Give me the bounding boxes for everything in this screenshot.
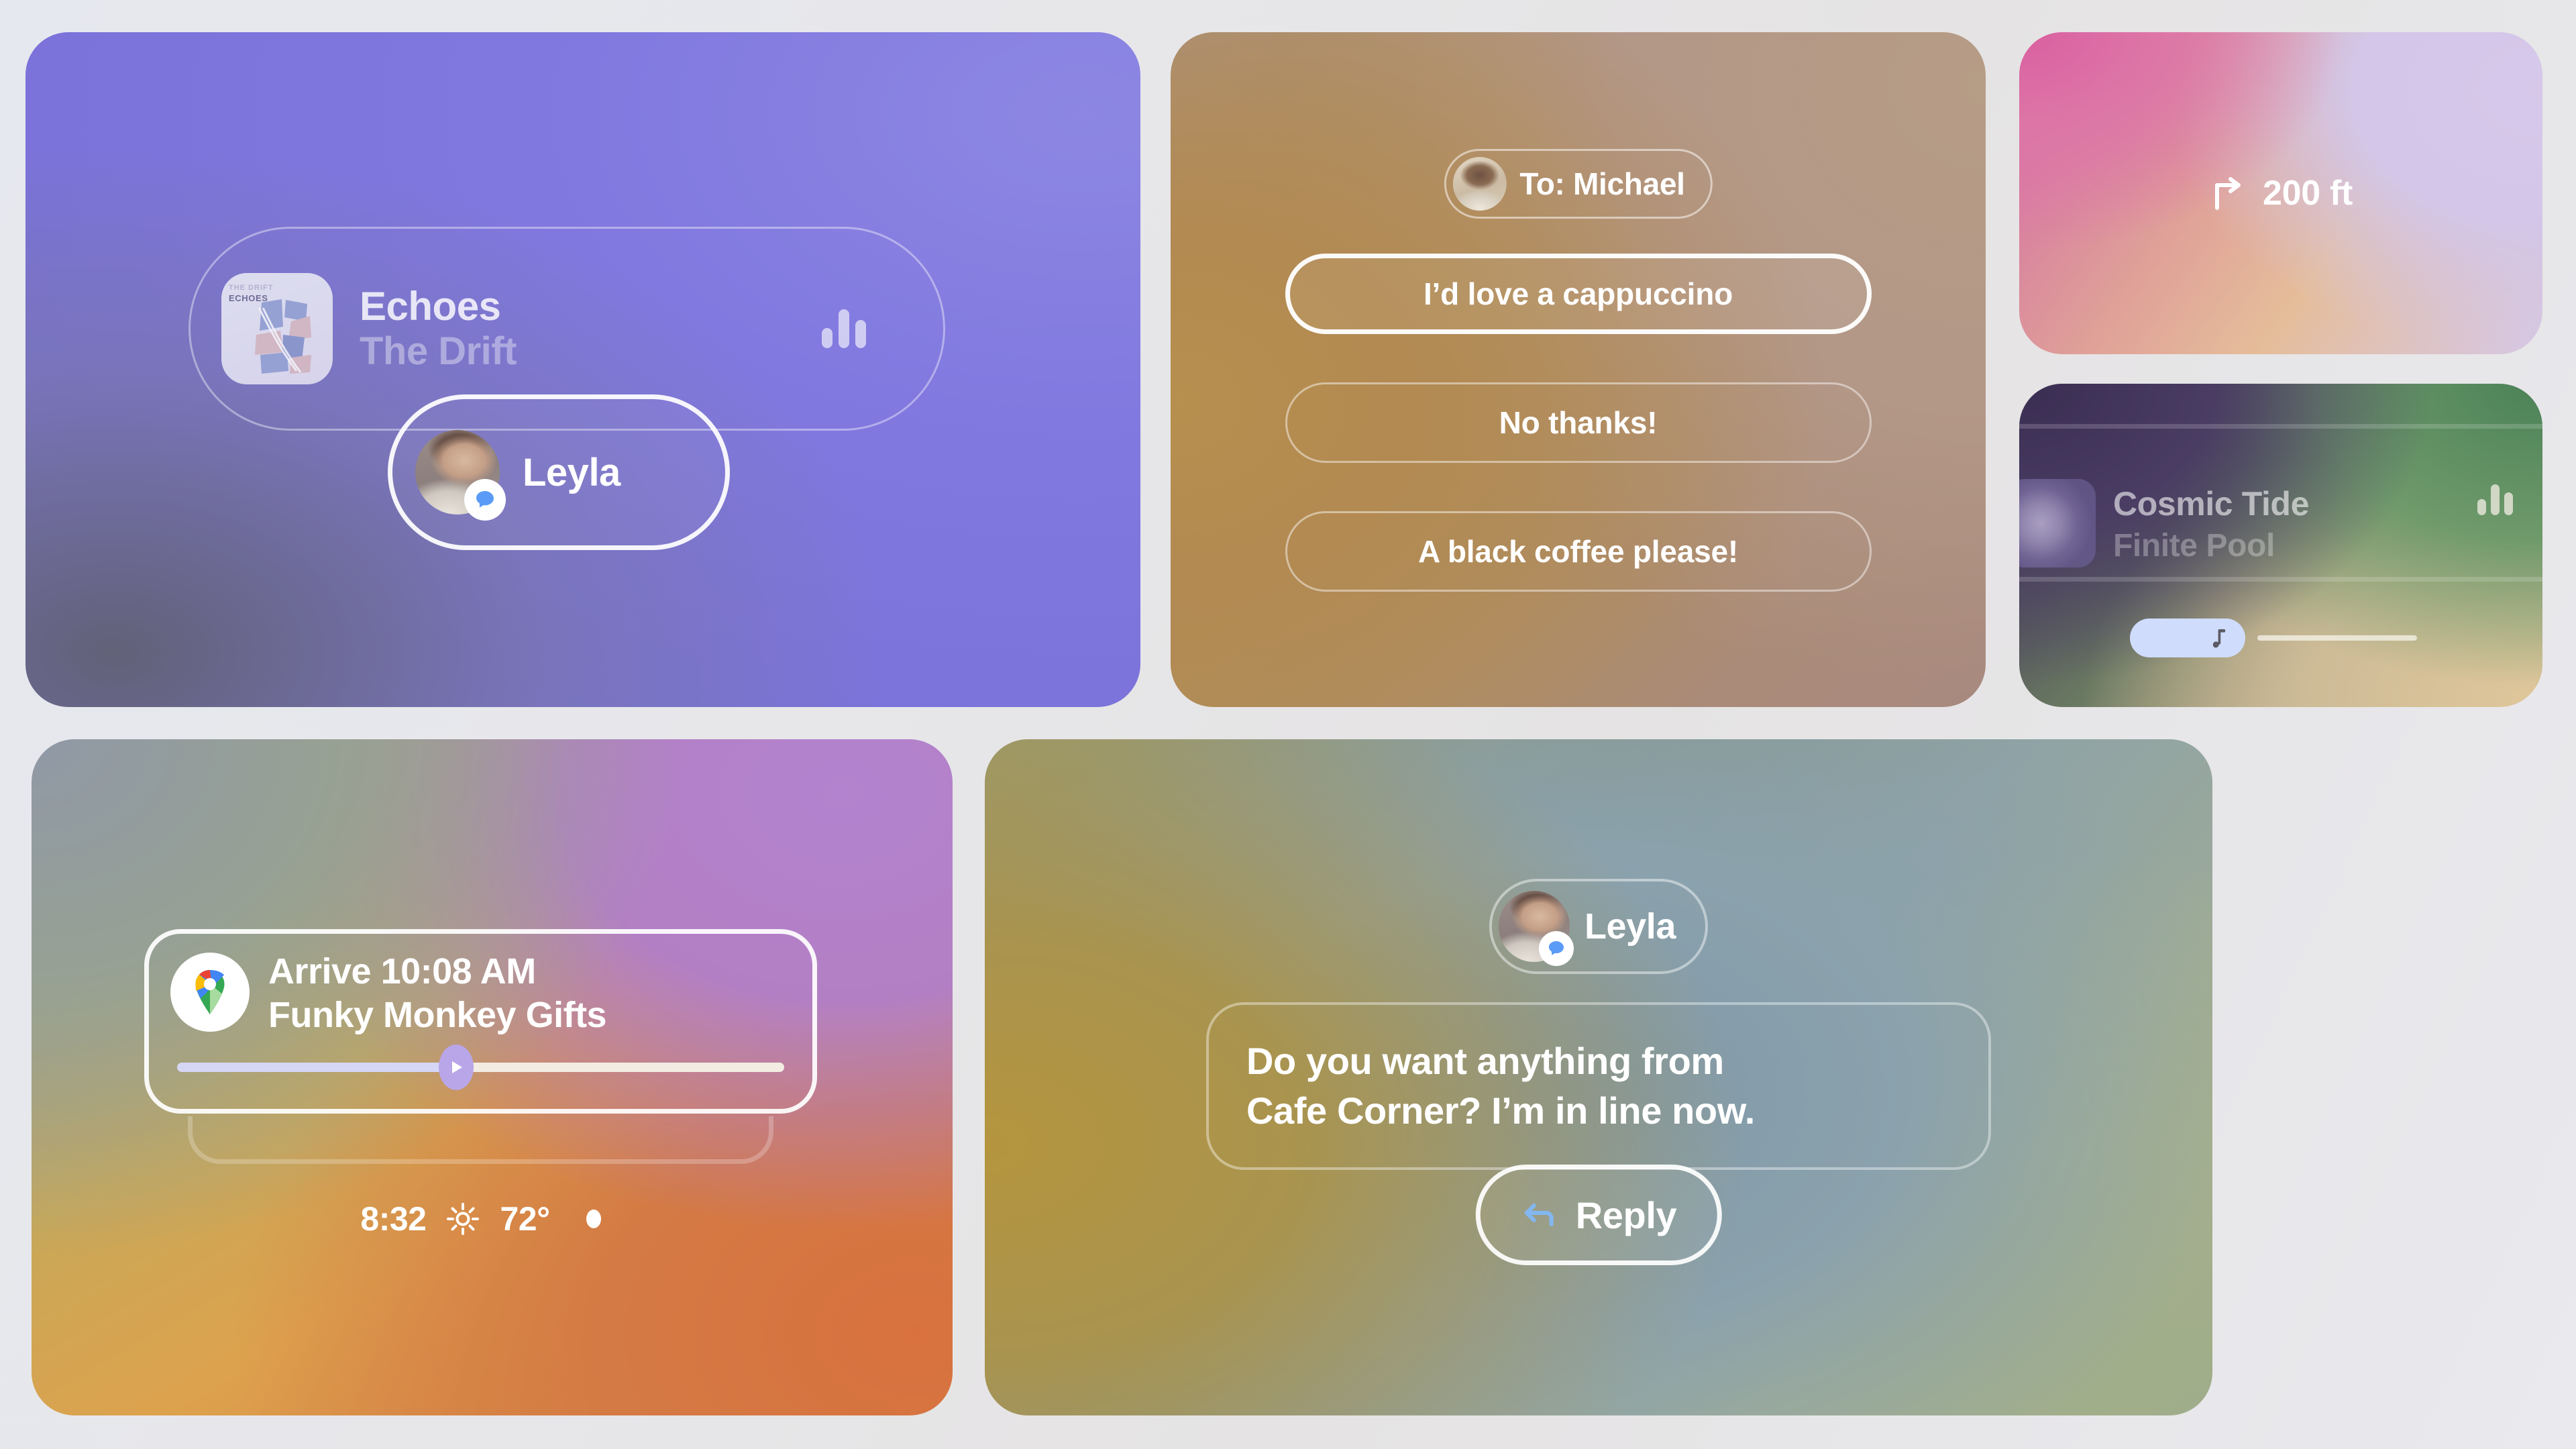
panel-divider-top (2019, 424, 2542, 429)
avatar-leyla (1499, 891, 1570, 962)
message-body-line1: Do you want anything from (1246, 1040, 1724, 1082)
music-note-icon (2209, 627, 2232, 649)
turn-right-icon (2209, 174, 2247, 212)
album-art-thumbnail: THE DRIFT ECHOES (221, 273, 333, 384)
messages-bubble-icon (1539, 931, 1574, 966)
quick-reply-option-label: No thanks! (1499, 405, 1658, 441)
caller-name: Leyla (523, 450, 621, 495)
messages-bubble-icon (464, 479, 506, 521)
arrival-card[interactable]: Arrive 10:08 AM Funky Monkey Gifts (144, 929, 817, 1114)
recipient-label: To: Michael (1519, 166, 1684, 202)
equalizer-bars-icon (2477, 484, 2513, 515)
message-bubble: Do you want anything from Cafe Corner? I… (1206, 1002, 1991, 1170)
now-playing-panel: THE DRIFT ECHOES Echoes The Drift (25, 32, 1140, 707)
message-body: Do you want anything from Cafe Corner? I… (1246, 1036, 1755, 1136)
music-source-pill[interactable] (2130, 619, 2245, 657)
panel-divider-bottom (2019, 577, 2542, 582)
slider-track-filled (177, 1063, 456, 1072)
arrival-destination: Funky Monkey Gifts (268, 994, 606, 1036)
quick-reply-option-label: A black coffee please! (1418, 533, 1738, 570)
slider-knob[interactable] (439, 1044, 474, 1090)
track-artist: The Drift (360, 330, 517, 373)
message-body-line2: Cafe Corner? I’m in line now. (1246, 1089, 1755, 1132)
track-meta: Echoes The Drift (360, 285, 517, 373)
quick-reply-option-1[interactable]: No thanks! (1285, 382, 1872, 463)
recipient-pill[interactable]: To: Michael (1444, 149, 1712, 219)
quick-reply-panel: To: Michael I’d love a cappuccino No tha… (1171, 32, 1986, 707)
google-maps-pin-icon (170, 953, 250, 1032)
status-row: 8:32 72° (144, 1199, 817, 1238)
secondary-now-playing-panel: Cosmic Tide Finite Pool (2019, 384, 2542, 707)
caller-pill[interactable]: Leyla (388, 394, 730, 550)
message-sender-name: Leyla (1585, 906, 1676, 947)
playback-track[interactable] (2257, 635, 2417, 641)
reply-button[interactable]: Reply (1476, 1165, 1722, 1265)
navigation-distance: 200 ft (2263, 173, 2353, 213)
quick-reply-option-label: I’d love a cappuccino (1424, 276, 1733, 312)
avatar-leyla (415, 430, 500, 515)
slider-track-remaining (456, 1063, 784, 1072)
track-title: Echoes (360, 285, 517, 327)
message-sender-pill[interactable]: Leyla (1489, 879, 1708, 974)
album-art-swirl (2019, 479, 2096, 568)
album-art-shapes-icon (221, 273, 333, 384)
status-dot-icon (586, 1210, 601, 1228)
quick-reply-option-0[interactable]: I’d love a cappuccino (1285, 254, 1872, 334)
navigation-panel: 200 ft (2019, 32, 2542, 354)
incoming-message-panel: Leyla Do you want anything from Cafe Cor… (985, 739, 2212, 1415)
navigation-maneuver[interactable]: 200 ft (2209, 173, 2353, 213)
equalizer-bars-icon (822, 309, 866, 348)
secondary-track-title: Cosmic Tide (2113, 484, 2309, 523)
status-time: 8:32 (360, 1199, 426, 1238)
reply-button-label: Reply (1576, 1193, 1677, 1237)
sun-icon (446, 1202, 480, 1236)
secondary-track-artist: Finite Pool (2113, 527, 2275, 564)
play-triangle-icon (447, 1059, 465, 1076)
status-temperature: 72° (500, 1199, 549, 1238)
arrival-eta: Arrive 10:08 AM (268, 951, 536, 992)
avatar-michael (1452, 157, 1506, 211)
quick-reply-option-2[interactable]: A black coffee please! (1285, 511, 1872, 592)
reply-arrow-icon (1521, 1196, 1558, 1234)
route-progress-slider[interactable] (177, 1063, 784, 1072)
